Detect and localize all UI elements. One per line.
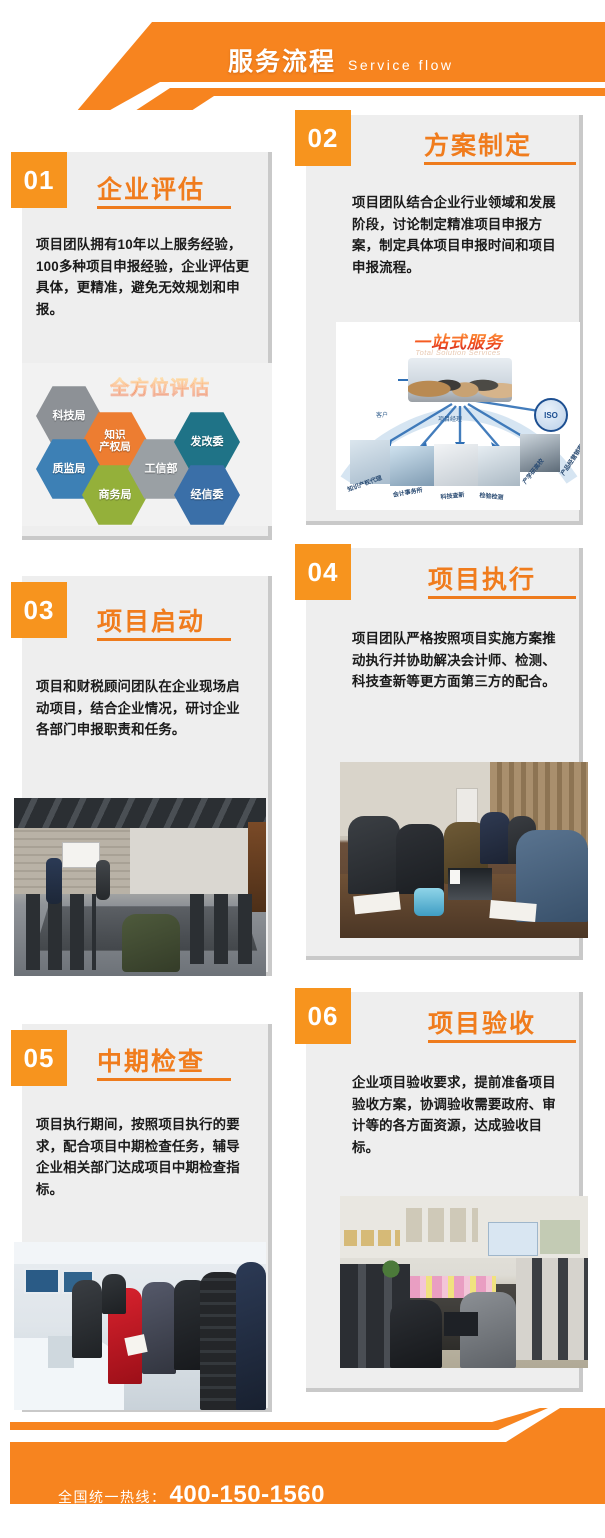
page-header: 服务流程 Service flow (0, 0, 605, 110)
card-02-title: 方案制定 (424, 126, 532, 162)
one-stop-node-customer: 客户 (376, 410, 388, 419)
whiteboard (62, 842, 100, 868)
hex-diagram-title: 全方位评估 (110, 373, 210, 400)
header-title-group: 服务流程 Service flow (228, 42, 453, 78)
card-01-title: 企业评估 (97, 170, 205, 206)
ceiling-panel (14, 798, 266, 828)
certificate-row-left (344, 1230, 400, 1246)
iso-seal-icon: ISO (534, 398, 568, 432)
card-02-title-rule (424, 162, 576, 165)
person-left-mid (396, 824, 444, 894)
hex-diagram: 全方位评估 科技局 知识产权局 质监局 商务局 工信部 发改委 经信委 (22, 363, 272, 526)
display-product (48, 1336, 74, 1368)
person-glasses (72, 1280, 102, 1358)
paper-cup (450, 870, 460, 884)
attendee-front-left (390, 1300, 442, 1368)
card-01-number-badge: 01 (11, 152, 67, 208)
one-stop-diagram: 一站式服务 Total Solution Services (336, 322, 580, 510)
person-standing (46, 858, 62, 904)
blue-bag (414, 888, 444, 916)
card-05-body: 项目执行期间，按照项目执行的要求，配合项目中期检查任务，辅导企业相关部门达成项目… (36, 1114, 251, 1201)
card-01-number: 01 (24, 165, 55, 196)
card-02-body: 项目团队结合企业行业领域和发展阶段，讨论制定精准项目申报方案，制定具体项目申报时… (352, 192, 568, 279)
photo-showroom-visit (14, 1242, 266, 1410)
wall-white (130, 828, 248, 894)
card-03-body: 项目和财税顾问团队在企业现场启动项目，结合企业情况，研讨企业各部门申报职责和任务… (36, 676, 251, 741)
footer-hotline: 全国统一热线： 400-150-1560 (58, 1481, 325, 1509)
card-02-number-badge: 02 (295, 110, 351, 166)
person-navy-right (236, 1262, 266, 1410)
potted-plant (382, 1258, 400, 1280)
leaf-thumb-search (434, 444, 478, 486)
page-subtitle: Service flow (348, 57, 453, 73)
card-02-number: 02 (308, 123, 339, 154)
laptop-open (444, 1312, 478, 1336)
wall-monitor-1 (24, 1268, 60, 1294)
footer-hotline-number: 400-150-1560 (170, 1481, 325, 1509)
card-04-body: 项目团队严格按照项目实施方案推动执行并协助解决会计师、检测、科技查新等更方面第三… (352, 628, 568, 693)
card-06-body: 企业项目验收要求，提前准备项目验收方案，协调验收需要政府、审计等的各方面资源，达… (352, 1072, 568, 1159)
one-stop-node-manager: 项目经理 (438, 414, 462, 423)
showroom-ceiling (14, 1242, 266, 1264)
card-05-photo (14, 1242, 266, 1410)
green-board (540, 1220, 580, 1254)
photo-boardroom-review (340, 1196, 588, 1368)
card-01-body: 项目团队拥有10年以上服务经验，100多种项目申报经验，企业评估更具体，更精准，… (36, 234, 251, 321)
card-01-title-rule (97, 206, 231, 209)
card-06-number: 06 (308, 1001, 339, 1032)
card-03-number-badge: 03 (11, 582, 67, 638)
one-stop-photo-meeting (408, 358, 512, 402)
card-04-photo (340, 762, 588, 938)
photo-conference-room (14, 798, 266, 976)
card-05-number-badge: 05 (11, 1030, 67, 1086)
card-03-title-rule (97, 638, 231, 641)
footer-banner-shape (0, 1408, 605, 1538)
card-06-photo (340, 1196, 588, 1368)
card-04-title: 项目执行 (428, 560, 536, 596)
projection-screen (488, 1222, 538, 1256)
card-06-title-rule (428, 1040, 576, 1043)
card-04-number-badge: 04 (295, 544, 351, 600)
card-06-title: 项目验收 (428, 1004, 536, 1040)
attendees-right (516, 1258, 588, 1360)
service-flow-infographic: 服务流程 Service flow 01 企业评估 项目团队拥有10年以上服务经… (0, 0, 605, 1538)
page-title: 服务流程 (228, 42, 336, 78)
card-04-number: 04 (308, 557, 339, 588)
person-back-left (102, 1274, 126, 1314)
photo-worktable-meeting (340, 762, 588, 938)
person-green-jacket (122, 914, 180, 972)
header-bar-bottom (112, 88, 605, 110)
card-03-number: 03 (24, 595, 55, 626)
chair-row-right (190, 894, 262, 964)
card-03-photo (14, 798, 266, 976)
card-04-title-rule (428, 596, 576, 599)
card-06-number-badge: 06 (295, 988, 351, 1044)
certificate-grid (406, 1208, 478, 1242)
chair-row-left (26, 894, 96, 970)
person-left-front (348, 816, 400, 894)
page-footer (0, 1408, 605, 1538)
person-center-grey (142, 1282, 176, 1374)
card-05-title-rule (97, 1078, 231, 1081)
card-05-title: 中期检查 (97, 1042, 205, 1078)
leaf-thumb-testing (478, 446, 520, 486)
leaf-thumb-accounting (390, 446, 434, 486)
person-presenter (96, 860, 110, 900)
card-03-title: 项目启动 (97, 602, 205, 638)
card-05-number: 05 (24, 1043, 55, 1074)
person-back-1 (480, 812, 510, 864)
footer-hotline-label: 全国统一热线： (58, 1487, 167, 1507)
one-stop-subtitle: Total Solution Services (336, 348, 580, 357)
